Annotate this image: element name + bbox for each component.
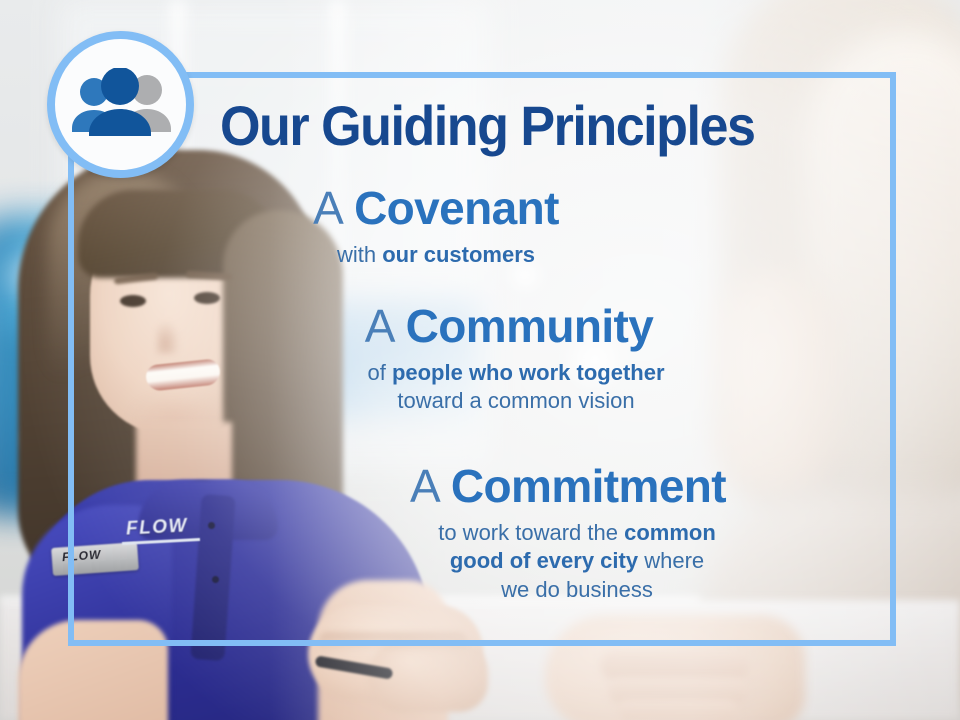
page-title: Our Guiding Principles — [220, 98, 815, 154]
principle-covenant: A Covenant with our customers — [68, 184, 896, 269]
principle-subtext: with our customers — [68, 241, 896, 269]
principle-article: A — [313, 182, 354, 234]
principle-article: A — [365, 300, 406, 352]
principle-heading: A Community — [68, 302, 896, 350]
subtext-line: to work toward the common — [258, 519, 896, 547]
principle-commitment: A Commitment to work toward the common g… — [68, 462, 896, 604]
subtext-line: of people who work together — [136, 359, 896, 387]
customer-finger — [600, 650, 750, 680]
people-group-icon — [67, 68, 175, 142]
customer-finger — [618, 700, 738, 720]
principle-heading: A Commitment — [68, 462, 896, 510]
subtext-normal: we do business — [501, 577, 653, 602]
subtext-line: good of every city where — [258, 547, 896, 575]
principle-subtext: to work toward the common good of every … — [68, 519, 896, 603]
subtext-normal: toward a common vision — [397, 388, 634, 413]
subtext-normal: where — [638, 548, 704, 573]
subtext-line: toward a common vision — [136, 387, 896, 415]
subtext-normal: of — [367, 360, 391, 385]
principle-heading: A Covenant — [68, 184, 896, 232]
principle-subtext: of people who work together toward a com… — [68, 359, 896, 415]
subtext-bold: people who work together — [392, 360, 665, 385]
principle-keyword: Community — [406, 300, 654, 352]
guiding-principles-banner: FLOW FLOW Our Guiding Principles A Coven… — [0, 0, 960, 720]
subtext-normal: to work toward the — [438, 520, 624, 545]
subtext-bold: good of every city — [450, 548, 638, 573]
text-content: Our Guiding Principles A Covenant with o… — [68, 72, 896, 646]
subtext-bold: our customers — [382, 242, 535, 267]
people-group-badge — [47, 31, 194, 178]
principle-keyword: Commitment — [451, 460, 726, 512]
subtext-line: we do business — [258, 576, 896, 604]
principle-community: A Community of people who work together … — [68, 302, 896, 416]
subtext-normal: with — [337, 242, 382, 267]
principle-article: A — [410, 460, 451, 512]
principle-keyword: Covenant — [354, 182, 559, 234]
subtext-bold: common — [624, 520, 716, 545]
